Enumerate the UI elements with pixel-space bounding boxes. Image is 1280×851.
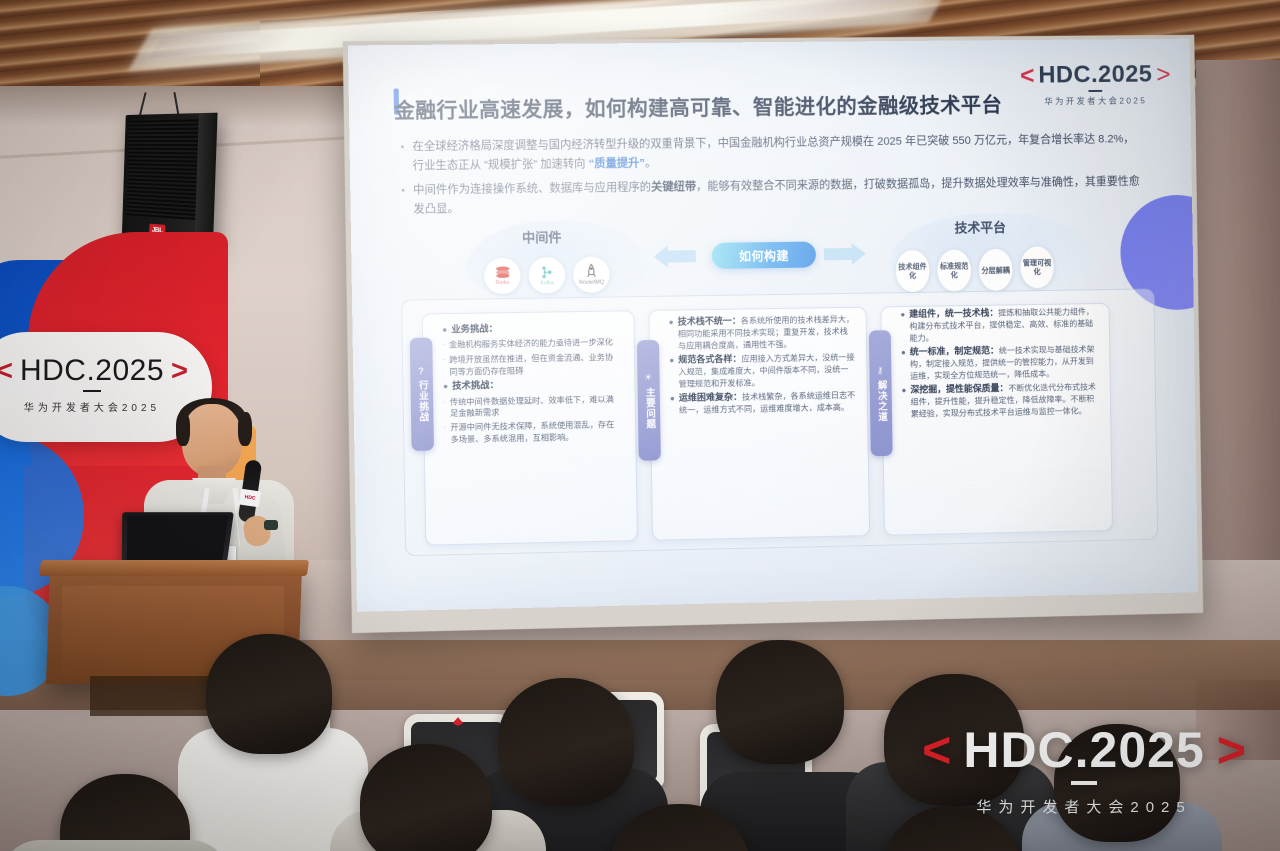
redis-icon xyxy=(495,266,510,279)
bullet-dot-icon: ● xyxy=(901,346,906,382)
middleware-group-title: 中间件 xyxy=(522,227,562,247)
kafka-label: Kafka xyxy=(540,280,554,286)
list-item: ●深挖掘，提性能保质量：不断优化迭代分布式技术组件，提升性能，提升稳定性，降低故… xyxy=(901,381,1099,421)
presenter-hair-side xyxy=(238,412,252,446)
list-item: ●技术栈不统一：各系统所使用的技术栈差异大，相同功能采用不同技术实现；重复开发，… xyxy=(669,313,856,352)
tab-industry-challenges: ? 行业挑战 xyxy=(410,338,434,451)
platform-group-title: 技术平台 xyxy=(954,217,1006,237)
audience-shoulders xyxy=(0,840,230,851)
slide-hdc-logo: < HDC.2025 > 华为开发者大会2025 xyxy=(1020,61,1171,108)
how-to-build-pill: 如何构建 xyxy=(712,241,816,268)
bracket-left-icon: < xyxy=(922,725,951,775)
list-item: ●运维困难复杂：技术栈繁杂，各系统运维日志不统一，运维方式不同，运维难度增大，成… xyxy=(670,389,856,417)
watermark-text: HDC.2025 xyxy=(963,721,1204,779)
presenter-hair-side xyxy=(176,412,190,446)
platform-item: 分层解耦 xyxy=(979,249,1013,291)
rocketmq-icon xyxy=(585,264,597,279)
list-item: ●技术挑战： xyxy=(443,377,621,395)
audience-head xyxy=(360,744,492,851)
tab-solutions: ⚷ 解决之道 xyxy=(869,330,893,456)
bullet-dot-icon: ● xyxy=(443,380,448,395)
bullet-dot-icon: ● xyxy=(900,308,905,344)
bullet-text: 在全球经济格局深度调整与国内经济转型升级的双重背景下，中国金融机构行业总资产规模… xyxy=(412,130,1140,177)
bracket-right-icon: > xyxy=(1217,725,1246,775)
list-item-text: 建组件，统一技术栈：提炼和抽取公共能力组件，构建分布式技术平台，提供稳定、高效、… xyxy=(909,305,1098,344)
list-item: ·开源中间件无技术保障，系统使用混乱，存在多场景、多系统混用，互相影响。 xyxy=(444,419,623,446)
list-item-text: 开源中间件无技术保障，系统使用混乱，存在多场景、多系统混用，互相影响。 xyxy=(450,419,622,446)
column-3-body: ●建组件，统一技术栈：提炼和抽取公共能力组件，构建分布式技术平台，提供稳定、高效… xyxy=(900,305,1099,422)
list-item-text: 统一标准，制定规范：统一技术实现与基础技术架构，制定接入规范，提供统一的管控能力… xyxy=(910,343,1099,382)
bullet-dot-icon: · xyxy=(442,340,445,353)
list-item-text: 传统中间件数据处理延时、效率低下，难以满足金融新需求 xyxy=(450,393,622,420)
presentation-photo: JBL < HDC.2025 > 华为开发者大会2025 金融行业高速发展，如何… xyxy=(0,0,1280,851)
bullet-dot-icon: · xyxy=(444,422,447,446)
list-item-text: 金融机构服务实体经济的能力亟待进一步深化 xyxy=(449,337,621,352)
column-1-body: ●业务挑战： ·金融机构服务实体经济的能力亟待进一步深化 ·跨境开放虽然在推进，… xyxy=(442,320,622,447)
list-item: ·传统中间件数据处理延时、效率低下，难以满足金融新需求 xyxy=(443,393,622,420)
tab-label: 主要问题 xyxy=(643,387,656,429)
bracket-left-icon: < xyxy=(0,357,13,386)
mic-flag-logo: HDC xyxy=(239,489,261,508)
list-item: ●建组件，统一技术栈：提炼和抽取公共能力组件，构建分布式技术平台，提供稳定、高效… xyxy=(900,305,1098,344)
laptop-screen xyxy=(127,515,229,560)
block-heading: 技术挑战： xyxy=(452,377,621,394)
podium-top-surface xyxy=(39,560,309,576)
audience-head xyxy=(498,678,634,806)
question-icon: ? xyxy=(418,366,425,376)
key-icon: ⚷ xyxy=(877,365,885,376)
list-item: ●业务挑战： xyxy=(442,320,620,337)
jbl-wall-speaker: JBL xyxy=(122,113,218,249)
watermark-subtitle: 华为开发者大会2025 xyxy=(922,796,1246,817)
bullet-dot-icon: ● xyxy=(670,392,675,417)
slide-logo-subtitle: 华为开发者大会2025 xyxy=(1020,94,1171,107)
audience-head xyxy=(206,634,332,754)
bracket-right-icon: > xyxy=(171,357,188,386)
audience-head xyxy=(716,640,844,764)
presentation-slide: < HDC.2025 > 华为开发者大会2025 金融行业高速发展，如何构建高可… xyxy=(348,39,1198,612)
rocketmq-label: RocketMQ xyxy=(579,280,604,286)
presenter-laptop xyxy=(122,512,234,566)
list-item-text: 规范各式各样：应用接入方式差异大，没统一接入规范，集成难度大，中间件版本不同，没… xyxy=(678,351,856,390)
list-item-text: 运维困难复杂：技术栈繁杂，各系统运维日志不统一，运维方式不同，运维难度增大，成本… xyxy=(679,389,856,417)
backdrop-logo-text: HDC.2025 xyxy=(20,354,164,388)
hdc-watermark: < HDC.2025 > 华为开发者大会2025 xyxy=(922,721,1246,817)
bullet-dot-icon: ● xyxy=(901,384,906,420)
bullet-dot-icon: ▪ xyxy=(400,138,404,177)
list-item-text: 深挖掘，提性能保质量：不断优化迭代分布式技术组件，提升性能，提升稳定性，降低故障… xyxy=(910,381,1099,420)
huawei-logo-icon xyxy=(452,717,464,726)
bullet-dot-icon: · xyxy=(443,397,446,421)
tab-main-problems: ☀ 主要问题 xyxy=(637,340,661,461)
bullet-dot-icon: · xyxy=(443,354,446,378)
block-heading: 业务挑战： xyxy=(451,320,620,337)
speaker-grille xyxy=(126,118,199,220)
bullet-dot-icon: ● xyxy=(669,316,674,352)
bullet-dot-icon: ● xyxy=(669,354,674,390)
list-item-text: 技术栈不统一：各系统所使用的技术栈差异大，相同功能采用不同技术实现；重复开发，技… xyxy=(678,313,856,352)
list-item: ●规范各式各样：应用接入方式差异大，没统一接入规范，集成难度大，中间件版本不同，… xyxy=(669,351,856,390)
kafka-icon xyxy=(540,265,554,279)
arrow-right-icon xyxy=(822,243,868,266)
wristwatch-icon xyxy=(264,520,278,530)
bullet-dot-icon: ● xyxy=(442,323,447,338)
list-item: ·金融机构服务实体经济的能力亟待进一步深化 xyxy=(442,337,620,353)
column-2-body: ●技术栈不统一：各系统所使用的技术栈差异大，相同功能采用不同技术实现；重复开发，… xyxy=(669,313,857,419)
redis-label: Redis xyxy=(496,280,510,286)
bullet-dot-icon: ▪ xyxy=(401,181,405,220)
sun-icon: ☀ xyxy=(644,372,653,383)
list-item: ·跨境开放虽然在推进，但在资金流通、业务协同等方面仍存在阻碍 xyxy=(443,352,622,378)
arrow-left-icon xyxy=(651,245,698,268)
list-item-text: 跨境开放虽然在推进，但在资金流通、业务协同等方面仍存在阻碍 xyxy=(449,352,621,378)
list-item: ●统一标准，制定规范：统一技术实现与基础技术架构，制定接入规范，提供统一的管控能… xyxy=(901,343,1099,382)
tab-label: 解决之道 xyxy=(875,380,887,422)
bullet-item: ▪ 在全球经济格局深度调整与国内经济转型升级的双重背景下，中国金融机构行业总资产… xyxy=(400,130,1140,177)
bracket-right-icon: > xyxy=(1156,62,1171,87)
slide-title: 金融行业高速发展，如何构建高可靠、智能进化的金融级技术平台 xyxy=(394,88,1003,124)
tab-label: 行业挑战 xyxy=(416,380,429,423)
platform-item: 管理可视化 xyxy=(1020,246,1054,288)
bracket-left-icon: < xyxy=(1020,63,1035,88)
slide-logo-text: HDC.2025 xyxy=(1038,61,1152,90)
